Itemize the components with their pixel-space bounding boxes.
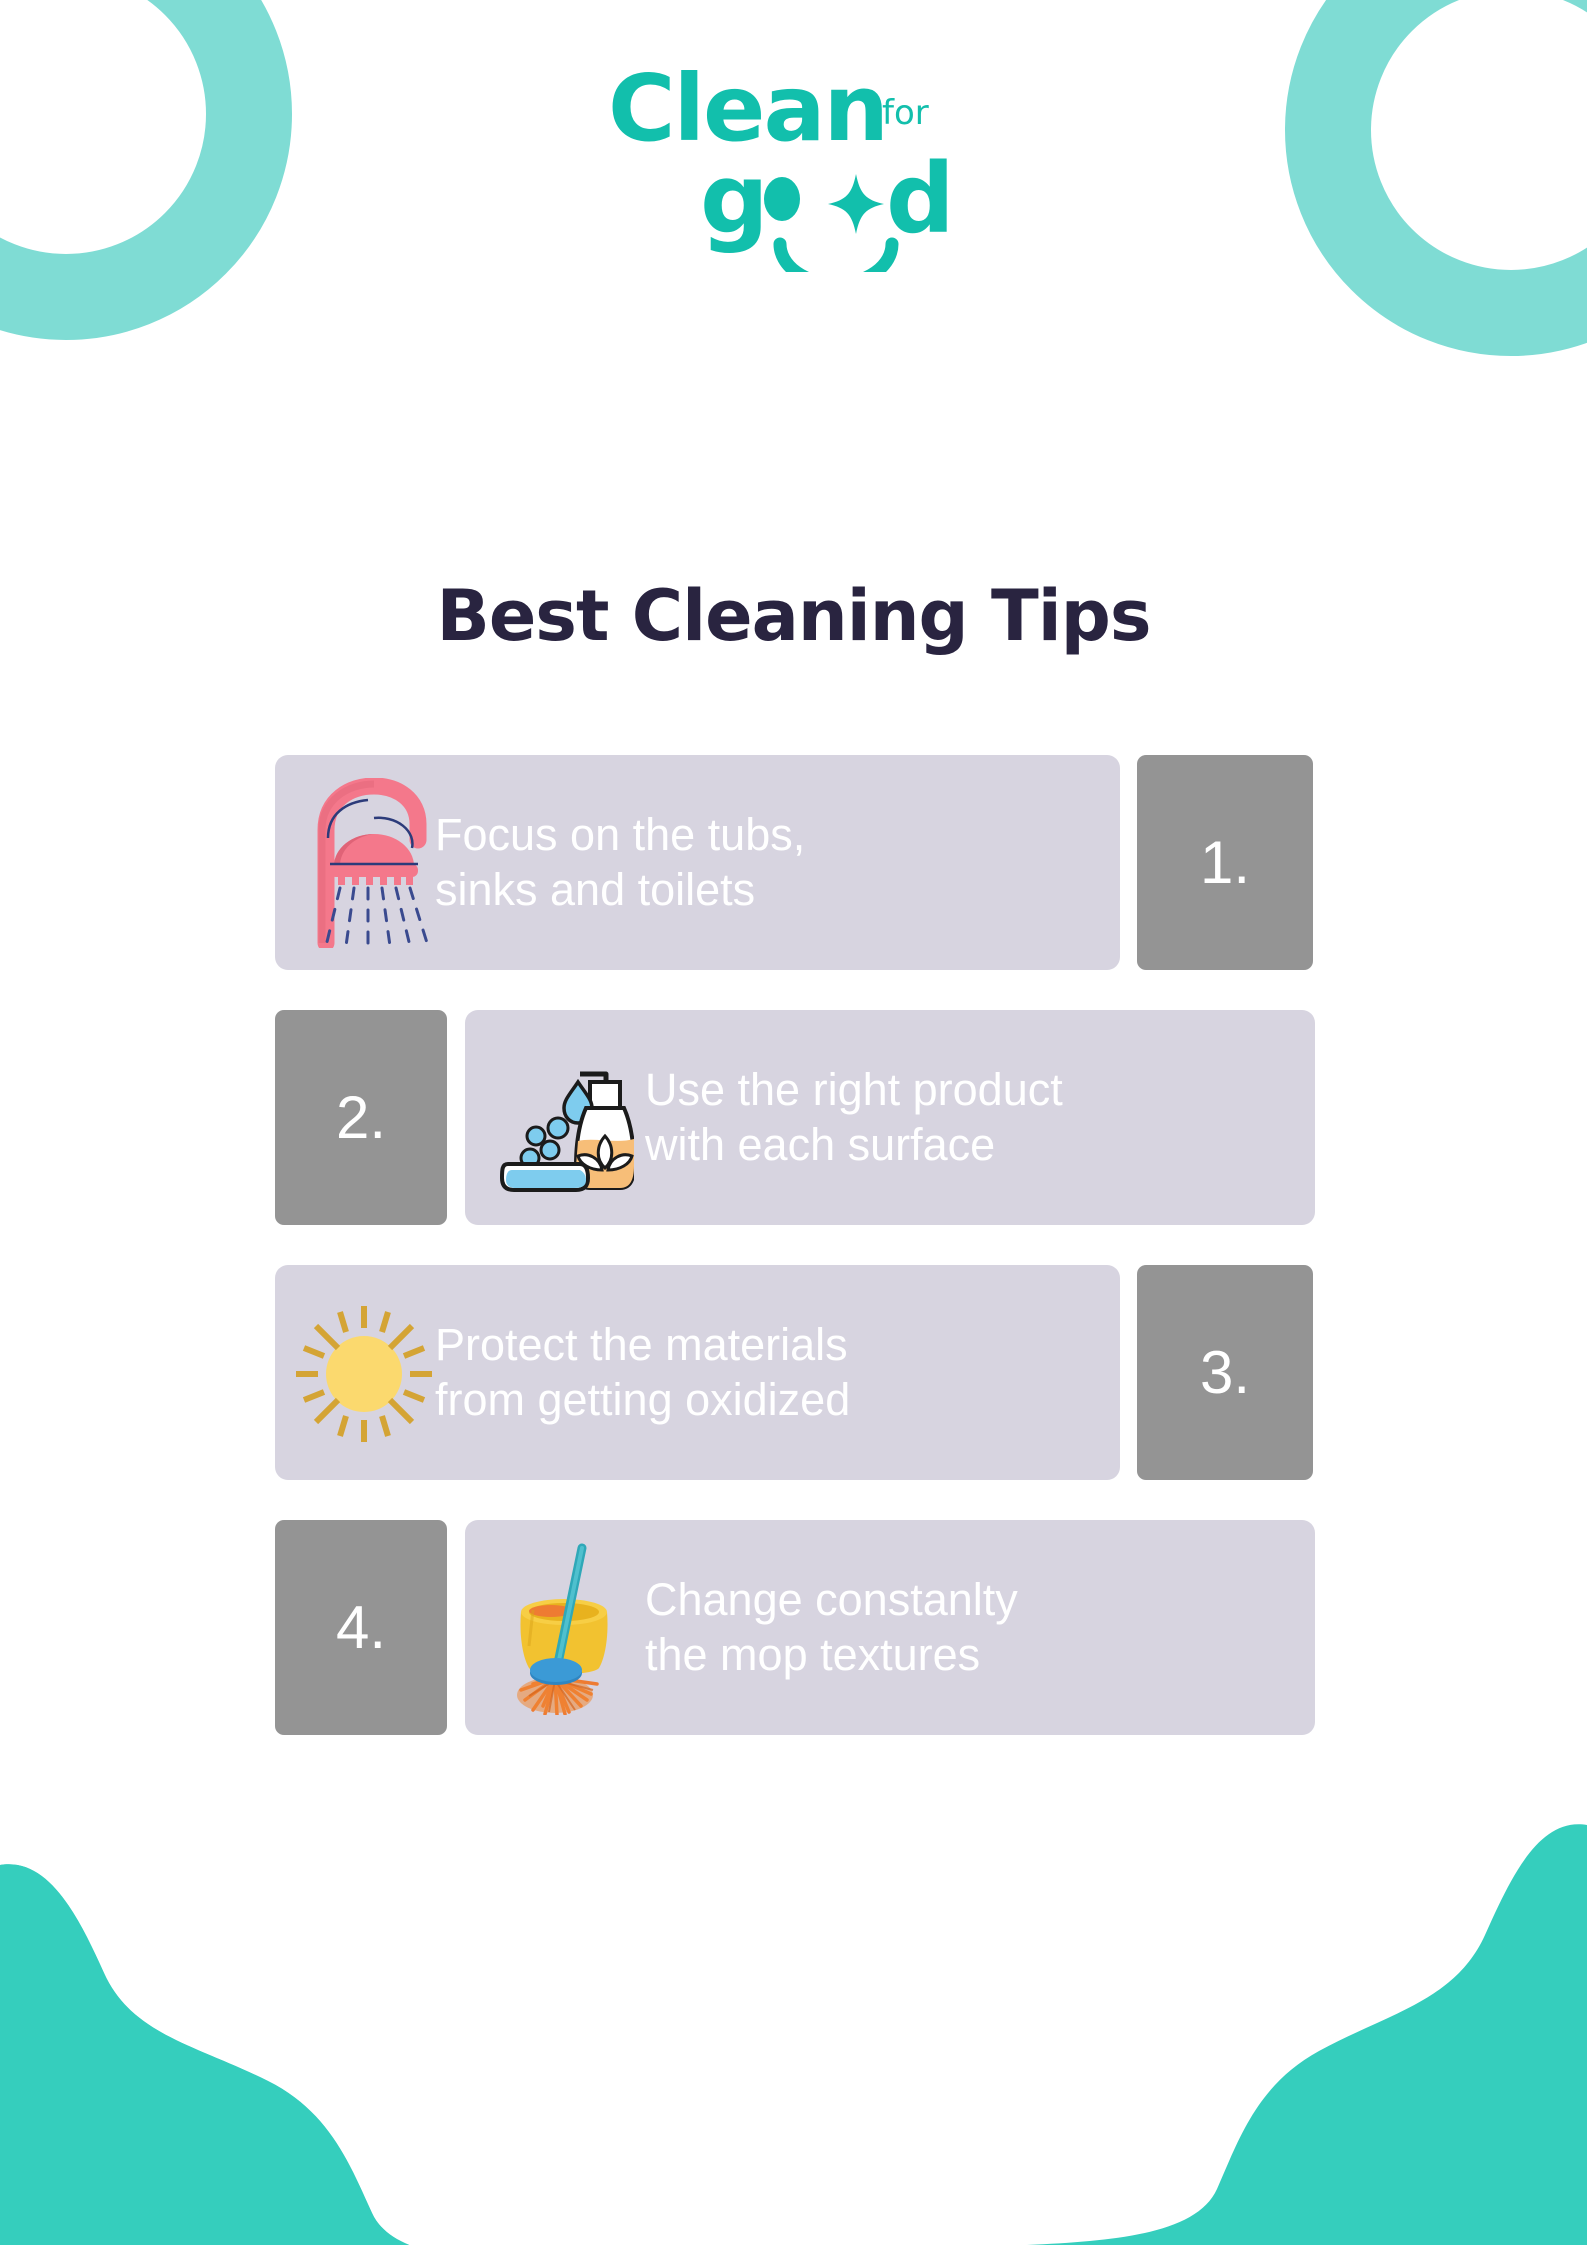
tip-text-2: Use the right product with each surface <box>645 1063 1305 1173</box>
tip-text-4: Change constanlty the mop textures <box>645 1573 1305 1683</box>
soap-dispenser-icon <box>475 1038 645 1198</box>
sun-icon <box>285 1298 435 1448</box>
tip-line-4b: the mop textures <box>645 1628 1291 1683</box>
logo-word-for: for <box>882 93 929 133</box>
tip-line-4a: Change constanlty <box>645 1573 1291 1628</box>
logo-letter-d: d <box>886 143 955 255</box>
logo-sparkle-icon <box>828 174 884 234</box>
tip-line-1a: Focus on the tubs, <box>435 808 1096 863</box>
decorative-blob-bottom-right <box>927 1765 1587 2245</box>
brand-logo: Clean for g d <box>0 62 1587 272</box>
tip-card-1[interactable]: Focus on the tubs, sinks and toilets <box>275 755 1120 970</box>
tips-list: Focus on the tubs, sinks and toilets 1. … <box>275 755 1315 1775</box>
logo-eye-dot <box>764 177 800 221</box>
shower-icon <box>285 778 435 948</box>
tip-line-1b: sinks and toilets <box>435 863 1096 918</box>
page-title: Best Cleaning Tips <box>0 575 1587 657</box>
tip-line-2b: with each surface <box>645 1118 1291 1173</box>
tip-line-3b: from getting oxidized <box>435 1373 1096 1428</box>
tip-number-3[interactable]: 3. <box>1137 1265 1313 1480</box>
tip-line-2a: Use the right product <box>645 1063 1291 1118</box>
tip-number-1[interactable]: 1. <box>1137 755 1313 970</box>
tip-row-1: Focus on the tubs, sinks and toilets 1. <box>275 755 1315 970</box>
tip-line-3a: Protect the materials <box>435 1318 1096 1373</box>
clean-for-good-logo-mark: Clean for g d <box>604 62 984 272</box>
logo-letter-g: g <box>700 143 769 255</box>
tip-number-4[interactable]: 4. <box>275 1520 447 1735</box>
mop-bucket-icon <box>475 1540 645 1715</box>
tip-text-1: Focus on the tubs, sinks and toilets <box>435 808 1110 918</box>
tip-text-3: Protect the materials from getting oxidi… <box>435 1318 1110 1428</box>
tip-row-2: 2. <box>275 1010 1315 1225</box>
decorative-blob-bottom-left <box>0 1765 660 2245</box>
tip-row-4: 4. <box>275 1520 1315 1735</box>
logo-smile-arc <box>780 244 892 272</box>
tip-row-3: Protect the materials from getting oxidi… <box>275 1265 1315 1480</box>
tip-card-3[interactable]: Protect the materials from getting oxidi… <box>275 1265 1120 1480</box>
tip-card-2[interactable]: Use the right product with each surface <box>465 1010 1315 1225</box>
tip-card-4[interactable]: Change constanlty the mop textures <box>465 1520 1315 1735</box>
tip-number-2[interactable]: 2. <box>275 1010 447 1225</box>
